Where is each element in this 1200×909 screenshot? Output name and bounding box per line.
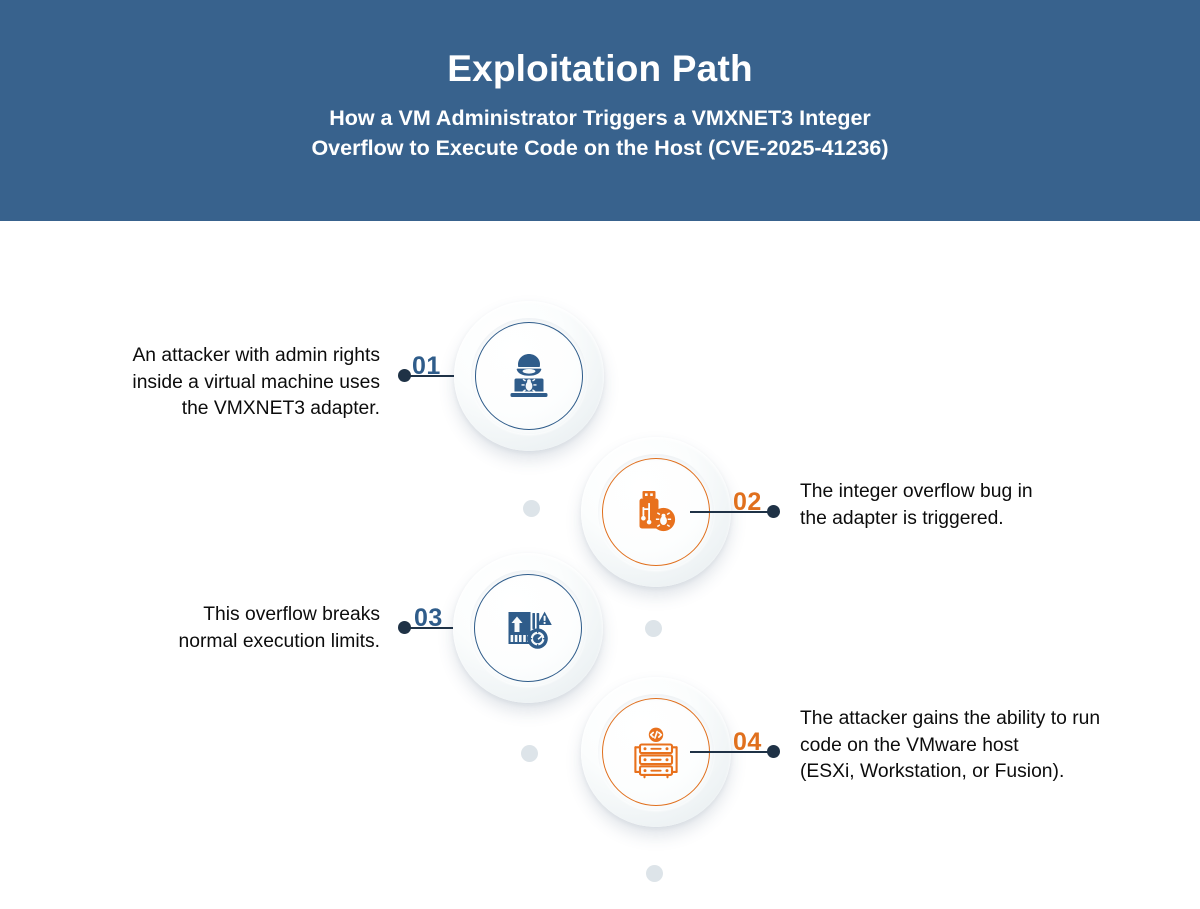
step-1-number: 01 bbox=[412, 353, 441, 379]
step-3-line-1: This overflow breaks bbox=[60, 602, 380, 629]
step-2-connector-bullet bbox=[767, 505, 780, 518]
usb-drive-bug-icon bbox=[626, 482, 686, 542]
overflow-gauge-warning-icon bbox=[498, 598, 558, 658]
step-4-connector-bullet bbox=[767, 745, 780, 758]
diagram-canvas: An attacker with admin rights inside a v… bbox=[0, 221, 1200, 909]
step-2-line-1: The integer overflow bug in bbox=[800, 479, 1190, 506]
step-4-line-1: The attacker gains the ability to run bbox=[800, 706, 1192, 733]
server-rack-code-icon bbox=[626, 722, 686, 782]
step-1-description: An attacker with admin rights inside a v… bbox=[60, 343, 380, 423]
page-subtitle: How a VM Administrator Triggers a VMXNET… bbox=[0, 103, 1200, 163]
step-2-line-2: the adapter is triggered. bbox=[800, 506, 1190, 533]
step-3-description: This overflow breaks normal execution li… bbox=[60, 602, 380, 655]
step-4-line-2: code on the VMware host bbox=[800, 733, 1192, 760]
step-4-description: The attacker gains the ability to run co… bbox=[800, 706, 1192, 786]
deco-dot-4 bbox=[646, 865, 663, 882]
step-1-line-3: the VMXNET3 adapter. bbox=[60, 396, 380, 423]
hacker-laptop-bug-icon bbox=[499, 346, 559, 406]
header-banner: Exploitation Path How a VM Administrator… bbox=[0, 0, 1200, 221]
page-title: Exploitation Path bbox=[0, 0, 1200, 91]
step-1-line-1: An attacker with admin rights bbox=[60, 343, 380, 370]
step-1-node[interactable] bbox=[454, 301, 604, 451]
deco-dot-1 bbox=[523, 500, 540, 517]
step-2-number: 02 bbox=[733, 489, 762, 515]
page-subtitle-line-2: Overflow to Execute Code on the Host (CV… bbox=[0, 133, 1200, 163]
step-1-line-2: inside a virtual machine uses bbox=[60, 370, 380, 397]
step-3-number: 03 bbox=[414, 605, 443, 631]
page-subtitle-line-1: How a VM Administrator Triggers a VMXNET… bbox=[0, 103, 1200, 133]
step-4-line-3: (ESXi, Workstation, or Fusion). bbox=[800, 759, 1192, 786]
step-2-description: The integer overflow bug in the adapter … bbox=[800, 479, 1190, 532]
step-4-number: 04 bbox=[733, 729, 762, 755]
header-text-block: Exploitation Path How a VM Administrator… bbox=[0, 0, 1200, 163]
step-3-line-2: normal execution limits. bbox=[60, 629, 380, 656]
deco-dot-2 bbox=[645, 620, 662, 637]
deco-dot-3 bbox=[521, 745, 538, 762]
